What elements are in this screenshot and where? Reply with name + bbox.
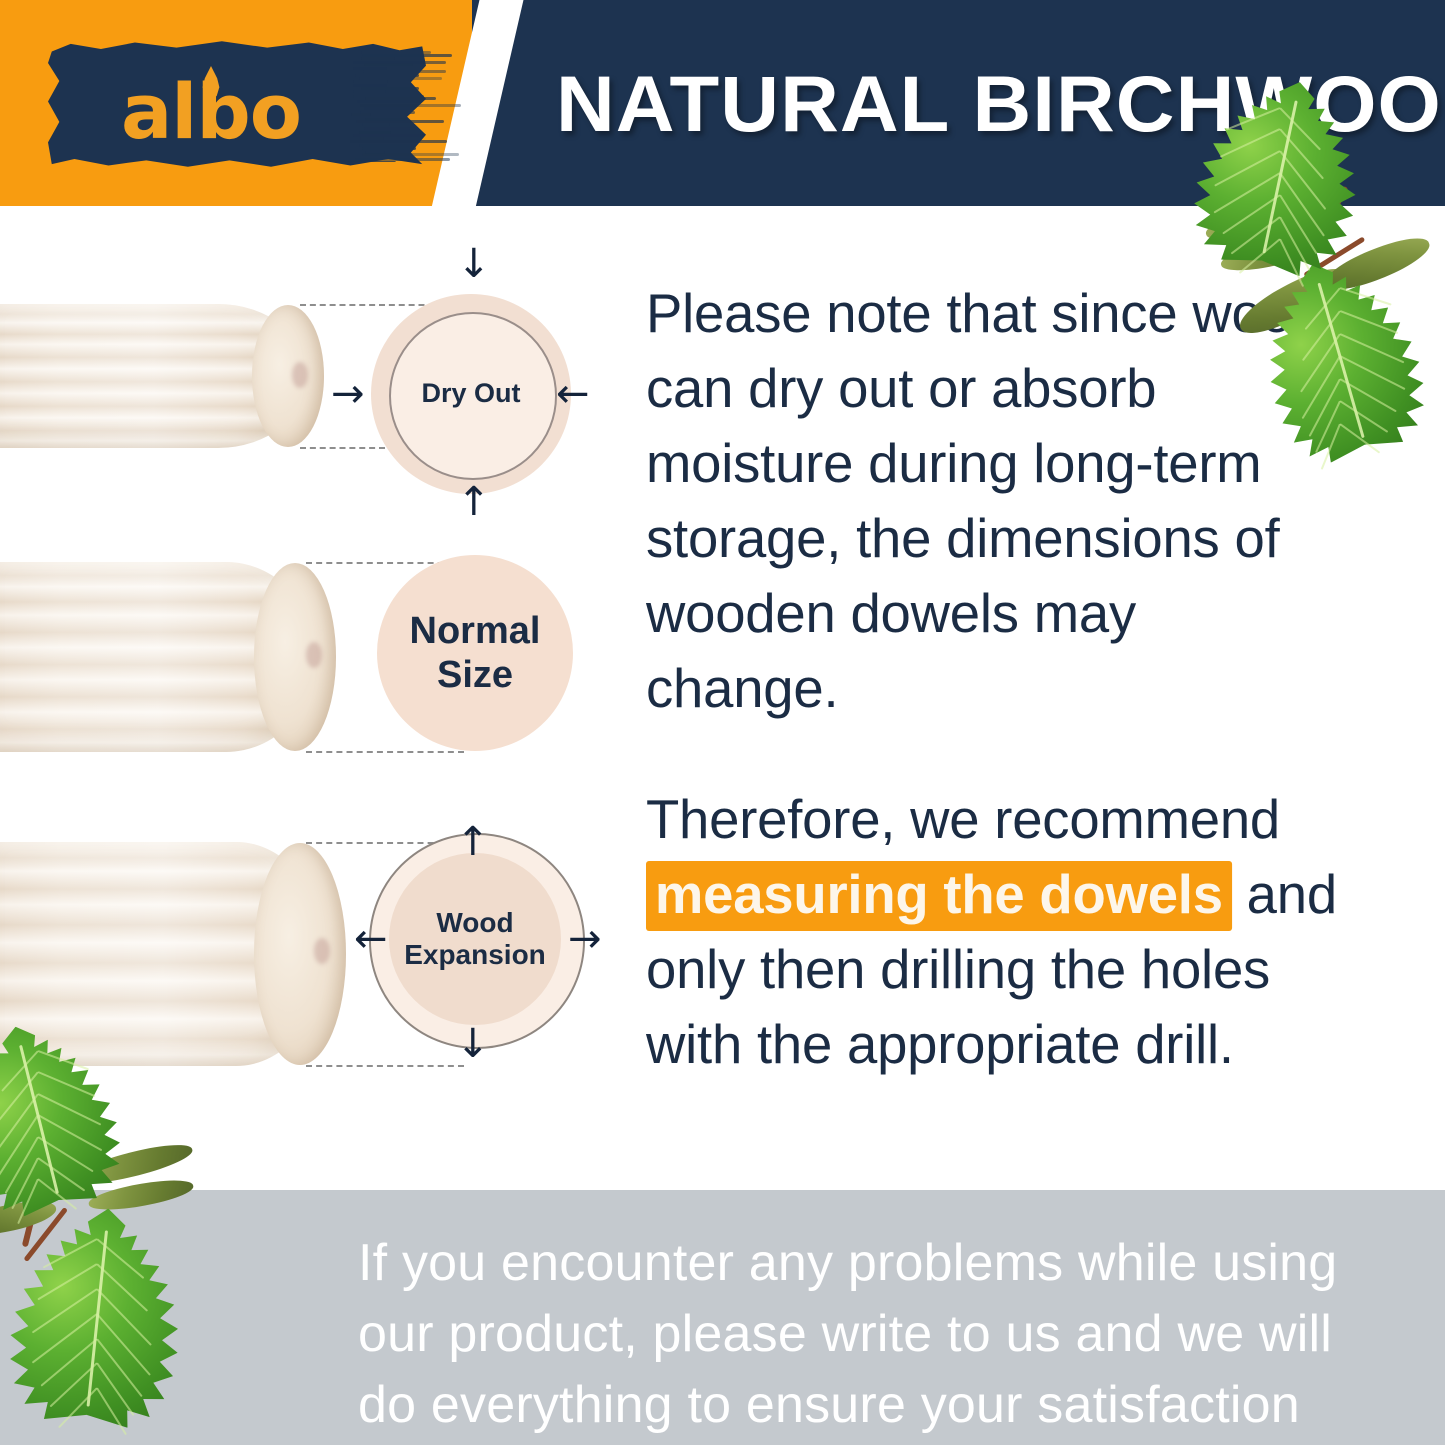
arrow-down-icon: ↓ <box>456 1024 490 1064</box>
measure-guide-bottom <box>306 1065 464 1067</box>
birch-leaf-bottom-left <box>0 1110 310 1445</box>
circle-label-wood-expansion: Wood Expansion <box>379 853 571 1025</box>
circle-label-normal-size: Normal Size <box>377 555 573 751</box>
recommendation-prefix: Therefore, we recommend <box>646 788 1280 850</box>
measure-guide-bottom <box>306 751 464 753</box>
circle-label-line: Wood <box>436 907 513 939</box>
dowel-knot-mark <box>292 362 308 388</box>
infographic-page: albo NATURAL BIRCHWOOD Dry Out ↓ ↑ → ← <box>0 0 1445 1445</box>
birch-leaf-top-right <box>1150 150 1445 480</box>
circle-label-line: Dry Out <box>421 378 520 409</box>
circle-label-line: Expansion <box>404 939 546 971</box>
dowel-knot-mark <box>306 642 322 668</box>
circle-label-line: Normal <box>410 609 541 653</box>
logo-text-wrap: albo <box>48 40 426 168</box>
arrow-down-icon: ↓ <box>457 244 491 284</box>
dowel-end-cap <box>252 305 324 447</box>
arrow-right-icon: → <box>568 919 602 959</box>
comparison-row-dry-out: Dry Out ↓ ↑ → ← <box>0 206 640 506</box>
dowel-knot-mark <box>314 938 330 964</box>
arrow-right-icon: → <box>331 374 365 414</box>
arrow-left-icon: ← <box>556 374 590 414</box>
dowel-end-cap <box>254 843 346 1065</box>
paragraph-recommendation: Therefore, we recommend measuring the do… <box>646 782 1339 1082</box>
arrow-up-icon: ↑ <box>456 822 490 862</box>
footer-message: If you encounter any problems while usin… <box>358 1228 1378 1441</box>
dowel-end-cap <box>254 563 336 751</box>
comparison-row-wood-expansion: Wood Expansion ↑ ↓ ← → <box>0 806 640 1126</box>
circle-label-line: Size <box>437 653 513 697</box>
highlight-measuring-dowels: measuring the dowels <box>646 861 1232 931</box>
arrow-left-icon: ← <box>354 919 388 959</box>
brand-logo: albo <box>48 40 426 168</box>
circle-label-dry-out: Dry Out <box>389 312 553 476</box>
comparison-row-normal-size: Normal Size <box>0 506 640 806</box>
